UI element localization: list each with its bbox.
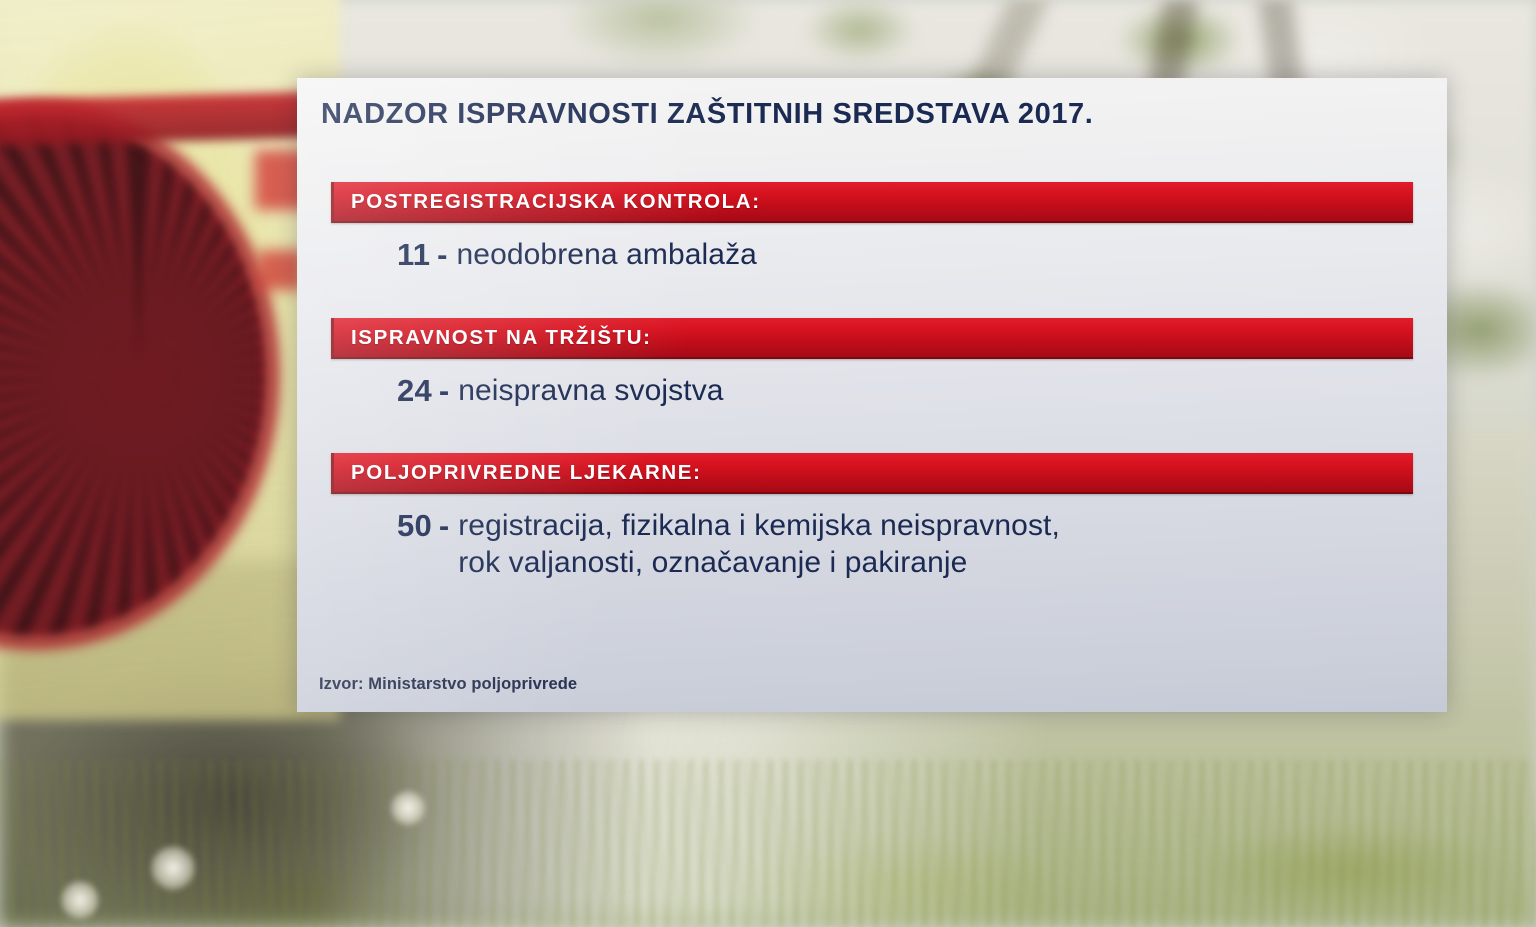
section-postregistracijska-kontrola: POSTREGISTRACIJSKA KONTROLA: 11 - neodob… [331, 182, 1413, 274]
section-poljoprivredne-ljekarne: POLJOPRIVREDNE LJEKARNE: 50 - registraci… [331, 453, 1413, 581]
entry-count: 50 [397, 508, 432, 544]
section-heading-bar: POLJOPRIVREDNE LJEKARNE: [331, 453, 1413, 494]
entry-count: 24 [397, 373, 432, 409]
entry-dash: - [439, 508, 449, 544]
section-entry: 11 - neodobrena ambalaža [331, 237, 1413, 274]
section-heading-bar: ISPRAVNOST NA TRŽIŠTU: [331, 318, 1413, 359]
section-heading-label: POSTREGISTRACIJSKA KONTROLA: [334, 190, 761, 214]
dandelion-c [60, 880, 100, 920]
grass-blades [0, 760, 1536, 927]
section-heading-bar: POSTREGISTRACIJSKA KONTROLA: [331, 182, 1413, 223]
sprayer-frame-bar [0, 92, 311, 146]
section-entry: 24 - neispravna svojstva [331, 373, 1413, 410]
section-heading-label: POLJOPRIVREDNE LJEKARNE: [334, 461, 702, 485]
entry-dash: - [437, 237, 447, 273]
section-entry: 50 - registracija, fizikalna i kemijska … [331, 508, 1413, 581]
entry-dash: - [439, 373, 449, 409]
page-title: NADZOR ISPRAVNOSTI ZAŠTITNIH SREDSTAVA 2… [321, 98, 1093, 131]
section-heading-label: ISPRAVNOST NA TRŽIŠTU: [334, 326, 652, 350]
info-panel: NADZOR ISPRAVNOSTI ZAŠTITNIH SREDSTAVA 2… [297, 78, 1447, 712]
screen: NADZOR ISPRAVNOSTI ZAŠTITNIH SREDSTAVA 2… [0, 0, 1536, 927]
entry-description: neispravna svojstva [458, 373, 723, 410]
entry-count: 11 [397, 237, 430, 273]
dandelion-a [150, 845, 196, 891]
entry-description: registracija, fizikalna i kemijska neisp… [458, 508, 1060, 581]
dandelion-b [390, 790, 426, 826]
section-ispravnost-na-trzistu: ISPRAVNOST NA TRŽIŠTU: 24 - neispravna s… [331, 318, 1413, 410]
source-attribution: Izvor: Ministarstvo poljoprivrede [319, 675, 577, 694]
entry-description: neodobrena ambalaža [457, 237, 757, 274]
